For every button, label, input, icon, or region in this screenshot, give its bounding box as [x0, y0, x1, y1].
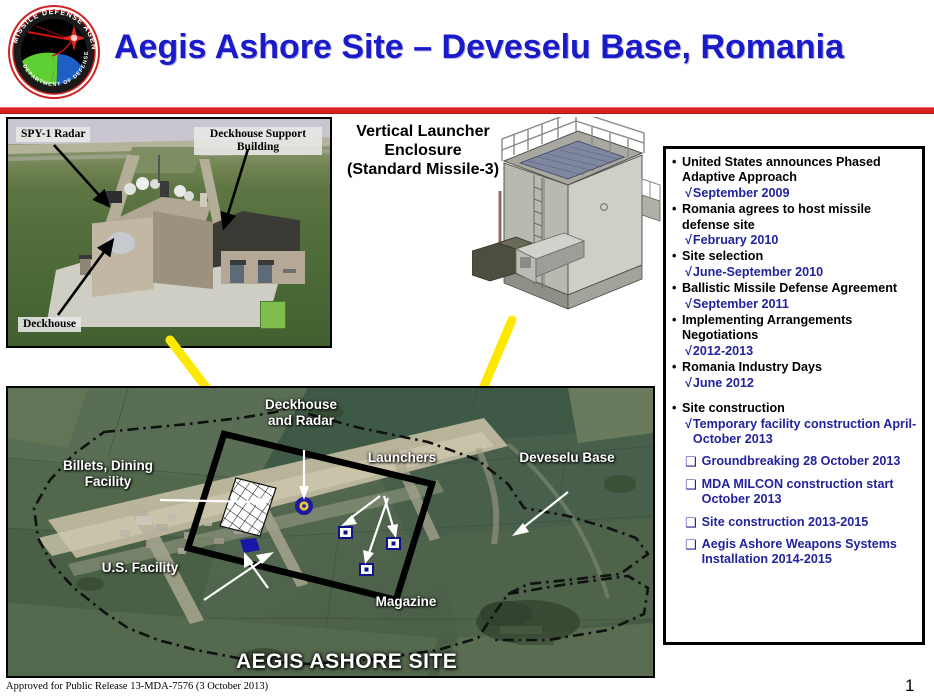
site-milestones-list: •United States announces Phased Adaptive… — [672, 155, 917, 568]
milestone-substatus: √Temporary facility construction April-O… — [672, 417, 917, 448]
milestone-substatus-label: September 2009 — [693, 186, 917, 201]
checkmark-icon: √ — [685, 265, 693, 280]
deveselu-satellite-map: Billets, Dining Facility Deckhouse and R… — [6, 386, 655, 678]
milestone-bullet-icon: • — [672, 155, 682, 186]
milestone-label: Romania Industry Days — [682, 360, 917, 375]
milestone-substatus-label: June 2012 — [693, 376, 917, 391]
milestone-substatus-label: MDA MILCON construction start October 20… — [702, 477, 917, 508]
checkbox-icon: ❑ — [685, 515, 702, 530]
milestone-substatus: ❑Site construction 2013-2015 — [672, 515, 917, 530]
checkmark-icon: √ — [685, 233, 693, 248]
vls-caption-line2: Enclosure — [384, 142, 461, 159]
milestone-bullet-icon: • — [672, 281, 682, 296]
slide-header: MISSILE DEFENSE AGENCY DEPARTMENT OF DEF… — [0, 0, 934, 108]
render-annotation-arrows — [8, 119, 330, 346]
milestone-heading: •Romania agrees to host missile defense … — [672, 202, 917, 233]
milestone-item: •Site selection√June-September 2010 — [672, 249, 917, 280]
mda-seal-logo: MISSILE DEFENSE AGENCY DEPARTMENT OF DEF… — [6, 4, 102, 100]
map-label-us-facility: U.S. Facility — [86, 560, 194, 576]
milestone-substatus-label: Groundbreaking 28 October 2013 — [702, 454, 917, 469]
map-label-deveselu-base: Deveselu Base — [504, 450, 630, 466]
milestone-heading: •Romania Industry Days — [672, 360, 917, 375]
header-divider-rule — [0, 107, 934, 114]
milestone-substatus: √June 2012 — [672, 376, 917, 391]
milestone-label: Implementing Arrangements Negotiations — [682, 313, 917, 344]
milestone-substatus: √February 2010 — [672, 233, 917, 248]
milestone-label: United States announces Phased Adaptive … — [682, 155, 917, 186]
milestone-heading: •United States announces Phased Adaptive… — [672, 155, 917, 186]
map-label-deckhouse-line1: Deckhouse — [265, 397, 337, 412]
milestone-spacer — [672, 392, 917, 401]
map-label-billets-line1: Billets, Dining — [63, 458, 153, 473]
checkbox-icon: ❑ — [685, 454, 702, 469]
milestone-heading: •Implementing Arrangements Negotiations — [672, 313, 917, 344]
map-label-deckhouse-line2: and Radar — [268, 413, 334, 428]
public-release-note: Approved for Public Release 13-MDA-7576 … — [6, 681, 268, 692]
milestone-label: Ballistic Missile Defense Agreement — [682, 281, 917, 296]
checkmark-icon: √ — [685, 344, 693, 359]
milestone-item: •Ballistic Missile Defense Agreement√Sep… — [672, 281, 917, 312]
milestone-item: •Romania Industry Days√June 2012 — [672, 360, 917, 391]
milestone-bullet-icon: • — [672, 313, 682, 344]
milestone-item: •Romania agrees to host missile defense … — [672, 202, 917, 248]
milestone-substatus-label: Site construction 2013-2015 — [702, 515, 917, 530]
milestone-heading: •Ballistic Missile Defense Agreement — [672, 281, 917, 296]
map-label-billets-dining: Billets, Dining Facility — [48, 458, 168, 490]
checkmark-icon: √ — [685, 417, 693, 448]
map-label-launchers: Launchers — [356, 450, 448, 466]
page-title: Aegis Ashore Site – Deveselu Base, Roman… — [114, 28, 914, 67]
milestone-substatus-label: 2012-2013 — [693, 344, 917, 359]
milestone-bullet-icon: • — [672, 202, 682, 233]
milestone-bullet-icon: • — [672, 401, 682, 416]
milestone-substatus: √June-September 2010 — [672, 265, 917, 280]
milestone-substatus: √September 2011 — [672, 297, 917, 312]
milestone-substatus: ❑Groundbreaking 28 October 2013 — [672, 454, 917, 469]
milestone-bullet-icon: • — [672, 360, 682, 375]
milestone-substatus-label: Aegis Ashore Weapons Systems Installatio… — [702, 537, 917, 568]
map-label-magazine: Magazine — [356, 594, 456, 610]
milestone-item: •Site construction√Temporary facility co… — [672, 401, 917, 568]
vls-caption-line1: Vertical Launcher — [356, 123, 489, 140]
milestone-substatus: ❑MDA MILCON construction start October 2… — [672, 477, 917, 508]
milestone-item: •United States announces Phased Adaptive… — [672, 155, 917, 201]
milestone-substatus-label: June-September 2010 — [693, 265, 917, 280]
checkbox-icon: ❑ — [685, 537, 702, 568]
milestone-substatus: ❑Aegis Ashore Weapons Systems Installati… — [672, 537, 917, 568]
milestone-substatus-label: Temporary facility construction April-Oc… — [693, 417, 917, 448]
milestone-label: Romania agrees to host missile defense s… — [682, 202, 917, 233]
checkmark-icon: √ — [685, 186, 693, 201]
map-label-deckhouse-and-radar: Deckhouse and Radar — [249, 397, 353, 429]
page-number: 1 — [905, 676, 914, 696]
milestone-substatus: √2012-2013 — [672, 344, 917, 359]
checkmark-icon: √ — [685, 297, 693, 312]
milestone-item: •Implementing Arrangements Negotiations√… — [672, 313, 917, 359]
milestone-label: Site construction — [682, 401, 917, 416]
milestone-heading: •Site selection — [672, 249, 917, 264]
checkmark-icon: √ — [685, 376, 693, 391]
vertical-launcher-enclosure-illustration: Vertical Launcher Enclosure (Standard Mi… — [332, 117, 654, 347]
milestone-substatus-label: September 2011 — [693, 297, 917, 312]
milestone-label: Site selection — [682, 249, 917, 264]
milestone-heading: •Site construction — [672, 401, 917, 416]
site-milestones-panel: •United States announces Phased Adaptive… — [663, 146, 925, 645]
map-imagery — [8, 388, 653, 676]
milestone-substatus-label: February 2010 — [693, 233, 917, 248]
checkbox-icon: ❑ — [685, 477, 702, 508]
aegis-ashore-3d-rendering: SPY-1 Radar Deckhouse Support Building D… — [6, 117, 332, 348]
vls-structure-drawing — [472, 117, 662, 347]
milestone-substatus: √September 2009 — [672, 186, 917, 201]
map-caption: AEGIS ASHORE SITE — [236, 650, 457, 674]
map-label-billets-line2: Facility — [85, 474, 132, 489]
milestone-bullet-icon: • — [672, 249, 682, 264]
